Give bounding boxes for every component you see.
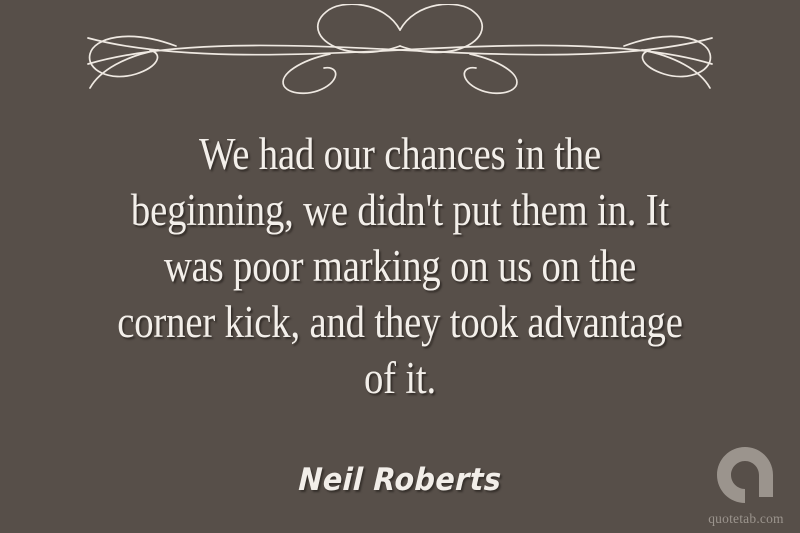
author-name: Neil Roberts (31, 462, 769, 498)
decorative-flourish-ornament (80, 4, 720, 96)
letter-q-logo-icon (714, 445, 776, 503)
quote-line: was poor marking on us on the (82, 238, 718, 294)
quote-line: of it. (82, 350, 718, 406)
quote-text: We had our chances in the beginning, we … (82, 126, 718, 406)
quotetab-logo-icon[interactable] (714, 445, 776, 503)
watermark[interactable]: quotetab.com (700, 443, 792, 529)
quote-line: corner kick, and they took advantage (82, 294, 718, 350)
watermark-site-label: quotetab.com (700, 511, 792, 527)
quote-image-canvas: We had our chances in the beginning, we … (0, 0, 800, 533)
flourish-icon (80, 4, 720, 96)
quote-line: We had our chances in the (82, 126, 718, 182)
quote-line: beginning, we didn't put them in. It (82, 182, 718, 238)
